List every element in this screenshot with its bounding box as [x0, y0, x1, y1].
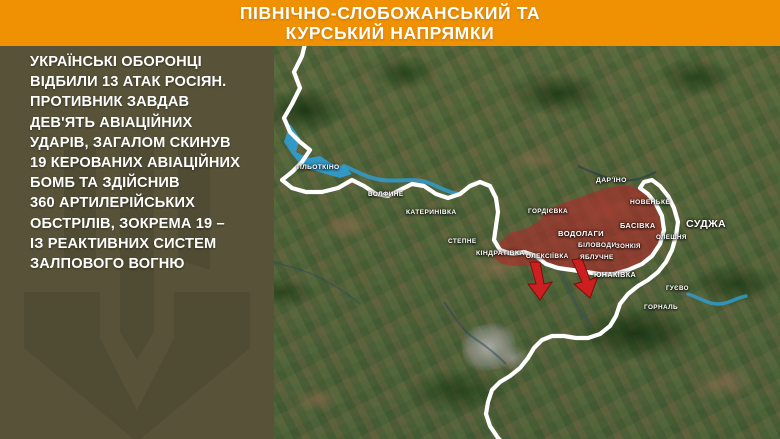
header-banner: ПІВНІЧНО-СЛОБОЖАНСЬКИЙ ТА КУРСЬКИЙ НАПРЯ…	[0, 0, 780, 46]
report-text-line: 360 АРТИЛЕРІЙСЬКИХ	[30, 193, 274, 213]
report-text-line: ПРОТИВНИК ЗАВДАВ	[30, 92, 274, 112]
report-text: УКРАЇНСЬКІ ОБОРОНЦІВІДБИЛИ 13 АТАК РОСІЯ…	[30, 52, 274, 274]
report-text-line: ВІДБИЛИ 13 АТАК РОСІЯН.	[30, 72, 274, 92]
header-title-line2: КУРСЬКИЙ НАПРЯМКИ	[0, 24, 780, 44]
infographic-root: ПЛЬОТКІНОВОЛФИНЕКАТЕРИНІВКАСТЕПНЕКІНДРАТ…	[0, 0, 780, 439]
header-title: ПІВНІЧНО-СЛОБОЖАНСЬКИЙ ТА КУРСЬКИЙ НАПРЯ…	[0, 4, 780, 43]
report-text-line: ДЕВ'ЯТЬ АВІАЦІЙНИХ	[30, 113, 274, 133]
map-overlay	[248, 46, 780, 439]
water-stream-sudzha	[444, 302, 506, 364]
report-text-line: ОБСТРІЛІВ, ЗОКРЕМА 19 –	[30, 214, 274, 234]
report-text-line: 19 КЕРОВАНИХ АВІАЦІЙНИХ	[30, 153, 274, 173]
report-text-line: ЗАЛПОВОГО ВОГНЮ	[30, 254, 274, 274]
header-title-line1: ПІВНІЧНО-СЛОБОЖАНСЬКИЙ ТА	[0, 4, 780, 24]
panel-edge-fade	[262, 46, 274, 439]
advance-arrow-west	[528, 262, 552, 300]
water-river-east	[688, 294, 746, 304]
water-stream-darino	[578, 166, 656, 181]
report-text-line: ІЗ РЕАКТИВНИХ СИСТЕМ	[30, 234, 274, 254]
water-stream-west	[268, 260, 360, 304]
satellite-map[interactable]: ПЛЬОТКІНОВОЛФИНЕКАТЕРИНІВКАСТЕПНЕКІНДРАТ…	[248, 46, 780, 439]
report-text-line: БОМБ ТА ЗДІЙСНИВ	[30, 173, 274, 193]
report-text-line: УДАРІВ, ЗАГАЛОМ СКИНУВ	[30, 133, 274, 153]
text-panel: УКРАЇНСЬКІ ОБОРОНЦІВІДБИЛИ 13 АТАК РОСІЯ…	[0, 46, 274, 439]
report-text-line: УКРАЇНСЬКІ ОБОРОНЦІ	[30, 52, 274, 72]
